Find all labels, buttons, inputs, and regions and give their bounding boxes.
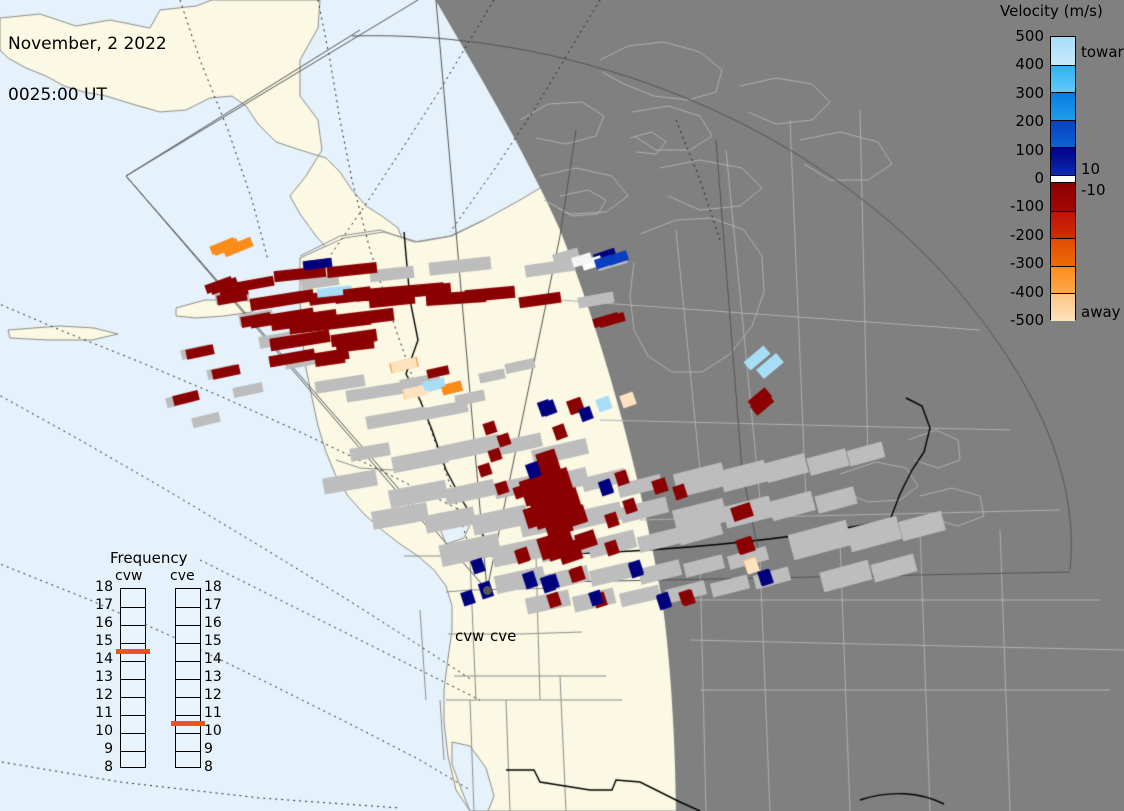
colorbar-segment (1051, 266, 1075, 294)
frequency-scale-cell (176, 679, 200, 680)
frequency-tick-label: 12 (204, 687, 222, 703)
frequency-scale-cell (121, 679, 145, 680)
frequency-tick-label: 10 (89, 723, 113, 739)
colorbar-toward-label: toward (1081, 43, 1124, 61)
frequency-scale-cell (176, 715, 200, 716)
frequency-tick-label: 17 (89, 597, 113, 613)
frequency-tick-label: 17 (204, 597, 222, 613)
frequency-scale-cell (176, 625, 200, 626)
frequency-tick-label: 11 (204, 705, 222, 721)
velocity-colorbar (1050, 36, 1076, 320)
frequency-marker-cvw (116, 649, 150, 654)
colorbar-divider (1051, 92, 1075, 93)
colorbar-segment (1051, 211, 1075, 239)
frequency-scale-cell (176, 697, 200, 698)
radar-site-marker (483, 586, 492, 595)
colorbar-divider (1051, 147, 1075, 148)
frequency-tick-label: 14 (89, 651, 113, 667)
colorbar-segment (1051, 183, 1075, 211)
frequency-scale-cell (121, 715, 145, 716)
frequency-scale-cell (121, 751, 145, 752)
frequency-scale-cve (175, 588, 201, 768)
colorbar-tick-label: 300 (1000, 84, 1044, 102)
page-title: November, 2 2022 0025:00 UT (8, 2, 167, 138)
frequency-scale-cell (121, 607, 145, 608)
colorbar-tick-label: -100 (1000, 197, 1044, 215)
colorbar-tick-label: 500 (1000, 27, 1044, 45)
colorbar-zero-upper-label: 10 (1081, 160, 1100, 178)
frequency-tick-label: 16 (204, 615, 222, 631)
colorbar-segment (1051, 293, 1075, 321)
frequency-radar-name-cve: cve (170, 568, 195, 584)
colorbar-tick-label: -300 (1000, 254, 1044, 272)
frequency-radar-name-cvw: cvw (115, 568, 142, 584)
frequency-scale-cell (176, 751, 200, 752)
frequency-tick-label: 9 (89, 741, 113, 757)
map-canvas (0, 0, 1124, 811)
frequency-tick-label: 18 (89, 579, 113, 595)
frequency-tick-label: 16 (89, 615, 113, 631)
frequency-tick-label: 8 (89, 759, 113, 775)
colorbar-segment (1051, 238, 1075, 266)
colorbar-title: Velocity (m/s) (1000, 2, 1103, 20)
colorbar-away-label: away (1081, 303, 1121, 321)
frequency-scale-cell (121, 625, 145, 626)
radar-site-label-cve: cve (490, 627, 516, 645)
frequency-scale-cell (176, 733, 200, 734)
frequency-scale-cell (176, 661, 200, 662)
colorbar-divider (1051, 120, 1075, 121)
frequency-tick-label: 14 (204, 651, 222, 667)
colorbar-tick-label: -200 (1000, 226, 1044, 244)
frequency-legend-title: Frequency (110, 549, 188, 567)
frequency-scale-cell (121, 643, 145, 644)
colorbar-segment (1051, 120, 1075, 148)
frequency-scale-cell (176, 643, 200, 644)
frequency-tick-label: 10 (204, 723, 222, 739)
colorbar-segment (1051, 37, 1075, 65)
frequency-tick-label: 8 (204, 759, 213, 775)
colorbar-segment (1051, 147, 1075, 175)
radar-site-label-cvw: cvw (455, 627, 484, 645)
frequency-tick-label: 13 (89, 669, 113, 685)
frequency-tick-label: 15 (89, 633, 113, 649)
frequency-scale-cell (176, 607, 200, 608)
colorbar-divider (1051, 211, 1075, 212)
colorbar-gradient (1050, 36, 1076, 320)
colorbar-divider (1051, 238, 1075, 239)
frequency-tick-label: 18 (204, 579, 222, 595)
colorbar-divider (1051, 65, 1075, 66)
colorbar-tick-label: 100 (1000, 141, 1044, 159)
colorbar-segment (1051, 175, 1075, 183)
frequency-scale-cell (121, 661, 145, 662)
colorbar-tick-label: 200 (1000, 112, 1044, 130)
radar-map-figure: November, 2 2022 0025:00 UT Velocity (m/… (0, 0, 1124, 811)
title-date: November, 2 2022 (8, 36, 167, 53)
colorbar-tick-label: -500 (1000, 311, 1044, 329)
colorbar-tick-label: 0 (1000, 169, 1044, 187)
frequency-scale-cell (121, 697, 145, 698)
frequency-tick-label: 11 (89, 705, 113, 721)
colorbar-zero-lower-label: -10 (1081, 181, 1106, 199)
frequency-tick-label: 9 (204, 741, 213, 757)
frequency-tick-label: 13 (204, 669, 222, 685)
colorbar-divider (1051, 266, 1075, 267)
title-time: 0025:00 UT (8, 87, 167, 104)
frequency-tick-label: 15 (204, 633, 222, 649)
colorbar-segment (1051, 92, 1075, 120)
colorbar-segment (1051, 65, 1075, 93)
frequency-tick-label: 12 (89, 687, 113, 703)
frequency-scale-cell (121, 733, 145, 734)
frequency-scale-cvw (120, 588, 146, 768)
colorbar-tick-label: -400 (1000, 283, 1044, 301)
colorbar-tick-label: 400 (1000, 55, 1044, 73)
colorbar-divider (1051, 293, 1075, 294)
frequency-marker-cve (171, 721, 205, 726)
